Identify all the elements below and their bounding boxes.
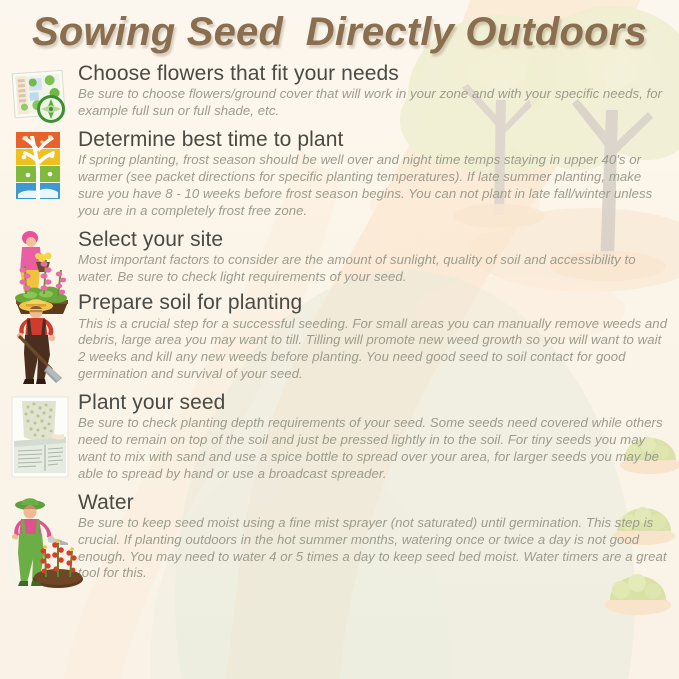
page-title: Sowing Seed Directly Outdoors [32, 10, 647, 55]
step-body: Be sure to keep seed moist using a fine … [78, 515, 679, 583]
step-heading: Water [78, 491, 679, 514]
step-plant-seed: Plant your seed Be sure to check plantin… [0, 391, 679, 483]
gardener-with-shovel-icon [6, 293, 74, 369]
step-heading: Determine best time to plant [78, 128, 679, 151]
step-determine-time: Determine best time to plant If spring p… [0, 128, 679, 220]
step-heading: Select your site [78, 228, 679, 251]
four-seasons-tree-icon [6, 130, 74, 206]
step-water: Water Be sure to keep seed moist using a… [0, 491, 679, 583]
step-prepare-soil: Prepare soil for planting This is a cruc… [0, 291, 679, 383]
step-heading: Plant your seed [78, 391, 679, 414]
step-body: This is a crucial step for a successful … [78, 316, 679, 384]
step-body: Be sure to choose flowers/ground cover t… [78, 86, 679, 120]
step-body: Most important factors to consider are t… [78, 252, 679, 286]
step-choose-flowers: Choose flowers that fit your needs Be su… [0, 62, 679, 120]
poster-title-container: Sowing Seed Directly Outdoors [0, 10, 679, 55]
steps-list: Choose flowers that fit your needs Be su… [0, 62, 679, 586]
step-body: If spring planting, frost season should … [78, 152, 679, 220]
step-select-site: Select your site Most important factors … [0, 228, 679, 286]
gardener-watering-icon [6, 493, 74, 569]
seed-packet-icon [6, 393, 74, 469]
step-body: Be sure to check planting depth requirem… [78, 415, 679, 483]
step-heading: Choose flowers that fit your needs [78, 62, 679, 85]
compass-rose [37, 95, 65, 123]
infographic-poster: Sowing Seed Directly Outdoors [0, 0, 679, 679]
step-heading: Prepare soil for planting [78, 291, 679, 314]
